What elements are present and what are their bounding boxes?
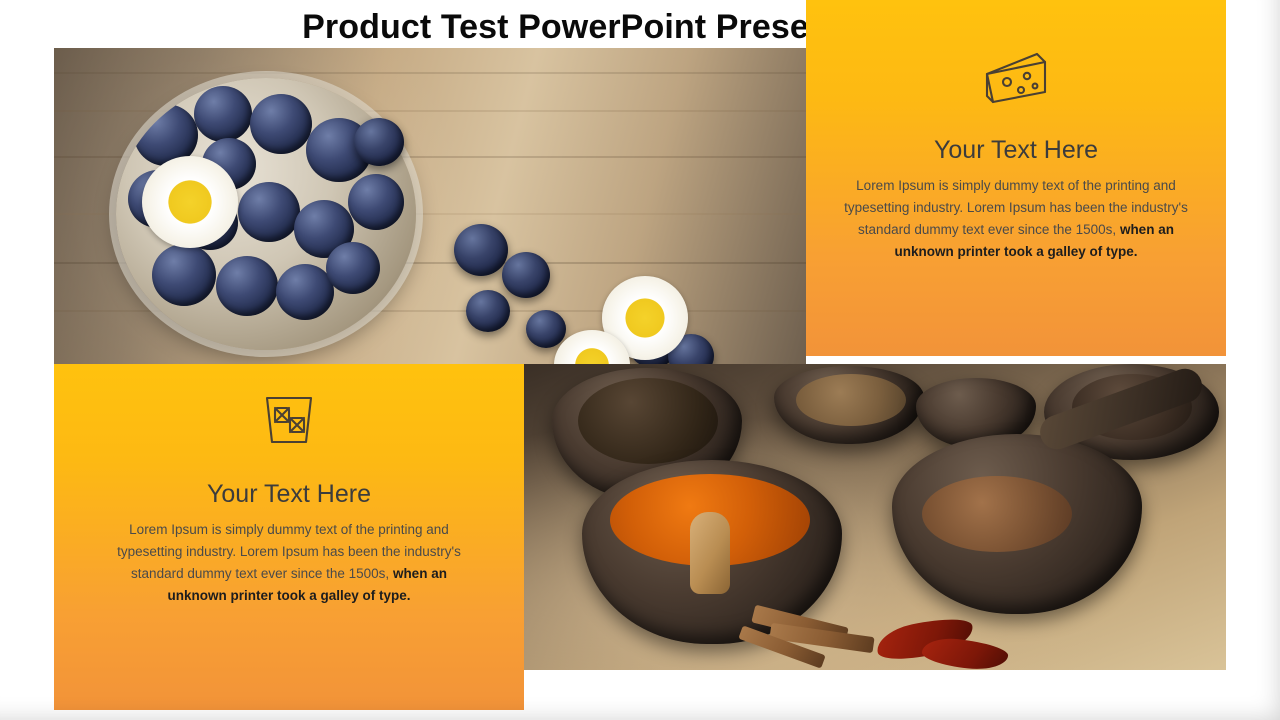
spices-in-stone-bowls-photo: [524, 364, 1226, 670]
flax-seeds: [922, 476, 1072, 552]
top-right-heading: Your Text Here: [806, 136, 1226, 165]
drink-glass-icon: [54, 388, 524, 455]
content-panel-top-right: Your Text Here Lorem Ipsum is simply dum…: [806, 0, 1226, 356]
cheese-wedge-icon: [806, 48, 1226, 115]
slide-canvas: Product Test PowerPoint Presentation: [0, 0, 1280, 720]
wooden-spoon: [690, 512, 730, 594]
top-right-text-block: Your Text Here Lorem Ipsum is simply dum…: [806, 136, 1226, 263]
bottom-left-text-block: Your Text Here Lorem Ipsum is simply dum…: [54, 480, 524, 607]
blueberries-in-glass-bowl-photo: [54, 48, 806, 364]
bottom-left-heading: Your Text Here: [54, 480, 524, 509]
daisy-flower: [142, 156, 238, 248]
bottom-left-body: Lorem Ipsum is simply dummy text of the …: [54, 519, 524, 607]
top-right-body: Lorem Ipsum is simply dummy text of the …: [806, 175, 1226, 263]
